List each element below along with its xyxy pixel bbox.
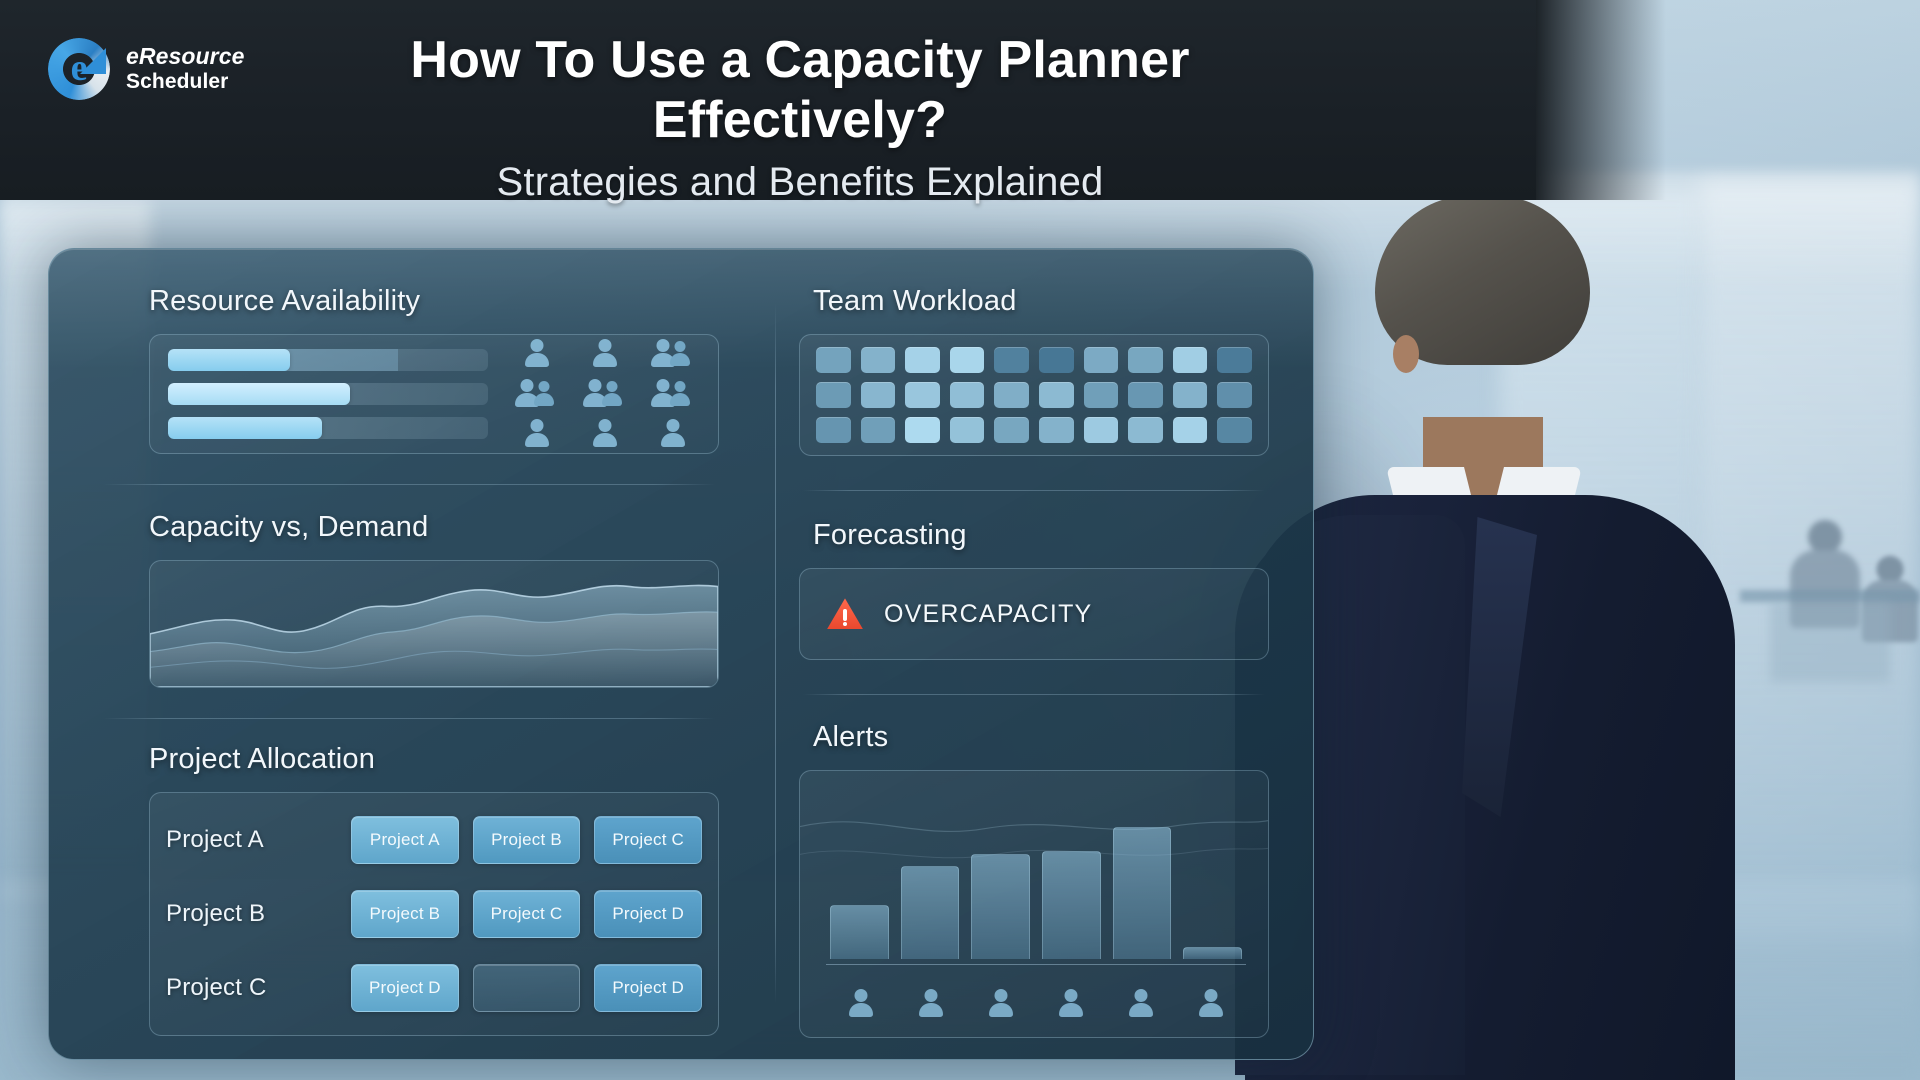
header-titles: How To Use a Capacity Planner Effectivel… — [300, 30, 1300, 205]
alert-bar[interactable] — [1113, 827, 1172, 959]
allocation-chip[interactable]: Project C — [473, 890, 581, 938]
team-workload-heatmap[interactable] — [799, 334, 1269, 456]
alerts-bar-chart[interactable] — [799, 770, 1269, 1038]
panel-forecasting: Forecasting OVERCAPACITY — [799, 519, 1269, 660]
person-icon — [984, 989, 1018, 1019]
page-title: How To Use a Capacity Planner Effectivel… — [300, 30, 1300, 150]
heatmap-cell[interactable] — [1084, 382, 1119, 408]
table-row[interactable]: Project C Project D Project D — [166, 951, 702, 1025]
availability-bar-group — [168, 349, 488, 439]
heatmap-cell[interactable] — [1128, 347, 1163, 373]
brand-line-2: Scheduler — [126, 70, 245, 94]
heatmap-cell[interactable] — [1217, 347, 1252, 373]
background-desk — [1740, 590, 1920, 602]
heatmap-cell[interactable] — [1128, 417, 1163, 443]
panel-title-project-allocation: Project Allocation — [149, 743, 719, 776]
allocation-chip[interactable]: Project D — [594, 964, 702, 1012]
project-allocation-table[interactable]: Project A Project A Project B Project C … — [149, 792, 719, 1036]
row-label: Project C — [166, 974, 351, 1002]
row-label: Project A — [166, 826, 351, 854]
person-icon — [520, 419, 554, 449]
dashboard-left-column: Resource Availability — [85, 267, 773, 1043]
row-chips: Project D Project D — [351, 964, 702, 1012]
section-divider — [803, 490, 1265, 491]
person-icon — [914, 989, 948, 1019]
header-fade-edge — [1536, 0, 1666, 200]
capacity-planner-dashboard[interactable]: Resource Availability — [48, 248, 1314, 1060]
allocation-chip-empty[interactable] — [473, 964, 581, 1012]
heatmap-cell[interactable] — [1173, 417, 1208, 443]
allocation-chip[interactable]: Project D — [351, 964, 459, 1012]
heatmap-cell[interactable] — [861, 382, 896, 408]
eresource-circle-logo-icon: e — [48, 38, 110, 100]
heatmap-cell[interactable] — [950, 417, 985, 443]
person-icon — [1194, 989, 1228, 1019]
capacity-vs-demand-chart[interactable] — [149, 560, 719, 688]
brand-logo[interactable]: e eResource Scheduler — [48, 38, 245, 100]
heatmap-cell[interactable] — [950, 382, 985, 408]
alert-bar[interactable] — [1183, 947, 1242, 959]
person-icon — [1054, 989, 1088, 1019]
panel-title-team-workload: Team Workload — [813, 285, 1269, 318]
alert-person-row — [826, 989, 1246, 1019]
person-icon — [656, 419, 690, 449]
heatmap-cell[interactable] — [816, 347, 851, 373]
brand-line-1: eResource — [126, 44, 245, 70]
heatmap-cell[interactable] — [1173, 382, 1208, 408]
heatmap-cell[interactable] — [1173, 347, 1208, 373]
person-icon — [520, 339, 554, 369]
status-badge: OVERCAPACITY — [884, 600, 1092, 629]
heatmap-cell[interactable] — [905, 417, 940, 443]
allocation-chip[interactable]: Project A — [351, 816, 459, 864]
panel-title-alerts: Alerts — [813, 721, 1269, 754]
heatmap-cell[interactable] — [950, 347, 985, 373]
heatmap-cell[interactable] — [1217, 417, 1252, 443]
heatmap-cell[interactable] — [994, 382, 1029, 408]
resource-avatar-grid — [510, 339, 700, 449]
alert-bar[interactable] — [971, 854, 1030, 959]
person-icon — [588, 419, 622, 449]
person-icon — [1124, 989, 1158, 1019]
heatmap-cell[interactable] — [861, 417, 896, 443]
heatmap-cell[interactable] — [1084, 417, 1119, 443]
section-divider — [803, 694, 1265, 695]
heatmap-cell[interactable] — [1039, 347, 1074, 373]
panel-project-allocation: Project Allocation Project A Project A P… — [99, 743, 719, 1036]
panel-capacity-vs-demand: Capacity vs, Demand — [99, 511, 719, 688]
allocation-chip[interactable]: Project C — [594, 816, 702, 864]
businessman-figure — [1245, 195, 1735, 1080]
panel-team-workload: Team Workload — [799, 285, 1269, 456]
availability-bar-row[interactable] — [168, 383, 488, 405]
ear — [1393, 335, 1419, 373]
resource-availability-card[interactable] — [149, 334, 719, 454]
dashboard-right-column: Team Workload Forecasting OVERCAPACITY — [773, 267, 1279, 1043]
people-group-icon — [656, 379, 690, 409]
heatmap-cell[interactable] — [1128, 382, 1163, 408]
row-label: Project B — [166, 900, 351, 928]
heatmap-cell[interactable] — [994, 347, 1029, 373]
panel-title-capacity-vs-demand: Capacity vs, Demand — [149, 511, 719, 544]
page-header: e eResource Scheduler How To Use a Capac… — [0, 0, 1536, 200]
person-icon — [844, 989, 878, 1019]
people-group-icon — [520, 379, 554, 409]
allocation-chip[interactable]: Project B — [473, 816, 581, 864]
alert-bar-group — [830, 809, 1242, 959]
people-group-icon — [588, 379, 622, 409]
brand-name: eResource Scheduler — [126, 44, 245, 93]
forecasting-status-card[interactable]: OVERCAPACITY — [799, 568, 1269, 660]
availability-bar-row[interactable] — [168, 349, 488, 371]
heatmap-cell[interactable] — [1039, 417, 1074, 443]
heatmap-cell[interactable] — [1217, 382, 1252, 408]
heatmap-cell[interactable] — [905, 347, 940, 373]
row-chips: Project A Project B Project C — [351, 816, 702, 864]
panel-resource-availability: Resource Availability — [99, 285, 719, 454]
area-chart-svg — [150, 561, 718, 687]
row-chips: Project B Project C Project D — [351, 890, 702, 938]
availability-bar-row[interactable] — [168, 417, 488, 439]
heatmap-cell[interactable] — [1039, 382, 1074, 408]
heatmap-cell[interactable] — [816, 382, 851, 408]
allocation-chip[interactable]: Project B — [351, 890, 459, 938]
table-row[interactable]: Project B Project B Project C Project D — [166, 877, 702, 951]
heatmap-cell[interactable] — [994, 417, 1029, 443]
chart-axis — [826, 964, 1246, 965]
alert-bar[interactable] — [1042, 851, 1101, 959]
heatmap-cell[interactable] — [905, 382, 940, 408]
page-subtitle: Strategies and Benefits Explained — [300, 160, 1300, 205]
heatmap-grid — [816, 347, 1252, 443]
heatmap-cell[interactable] — [861, 347, 896, 373]
warning-triangle-icon — [826, 597, 864, 631]
people-group-icon — [656, 339, 690, 369]
person-icon — [588, 339, 622, 369]
panel-alerts: Alerts — [799, 721, 1269, 1038]
heatmap-cell[interactable] — [1084, 347, 1119, 373]
section-divider — [103, 484, 715, 485]
alert-bar[interactable] — [901, 866, 960, 959]
panel-title-resource-availability: Resource Availability — [149, 285, 719, 318]
background-desk-base — [1770, 602, 1890, 682]
table-row[interactable]: Project A Project A Project B Project C — [166, 803, 702, 877]
allocation-chip[interactable]: Project D — [594, 890, 702, 938]
alert-bar[interactable] — [830, 905, 889, 959]
section-divider — [103, 718, 715, 719]
heatmap-cell[interactable] — [816, 417, 851, 443]
panel-title-forecasting: Forecasting — [813, 519, 1269, 552]
